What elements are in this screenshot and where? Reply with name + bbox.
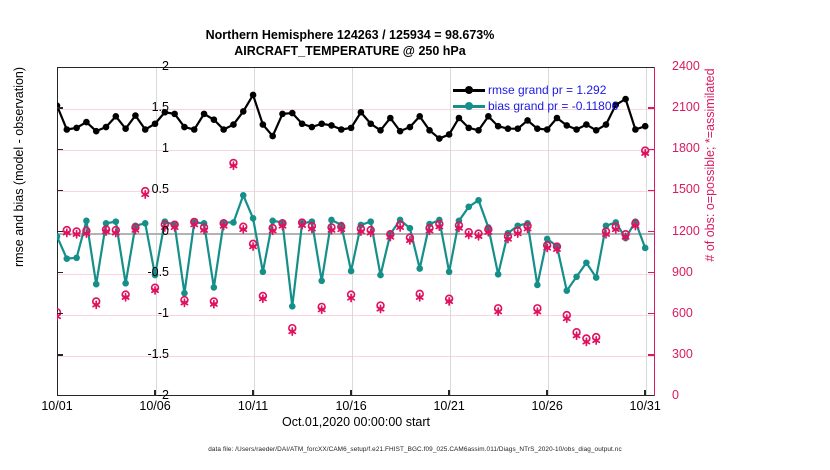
data-point bbox=[642, 245, 649, 252]
data-point bbox=[465, 204, 472, 211]
data-point bbox=[54, 233, 61, 240]
x-tick-mark bbox=[350, 390, 351, 396]
data-point bbox=[191, 126, 198, 133]
data-point bbox=[240, 192, 247, 199]
data-point bbox=[201, 111, 208, 118]
y-tick-label-right: 1500 bbox=[672, 182, 700, 196]
legend-marker-rmse bbox=[453, 84, 485, 96]
data-point bbox=[230, 219, 237, 226]
y-tick-mark-left bbox=[57, 190, 63, 191]
y-tick-label-right: 2100 bbox=[672, 100, 700, 114]
y-tick-label-right: 900 bbox=[672, 265, 693, 279]
data-file-footer: data file: /Users/raeder/DAI/ATM_forcXX/… bbox=[0, 446, 830, 453]
x-tick-mark bbox=[154, 390, 155, 396]
data-point bbox=[377, 127, 384, 134]
y-tick-label-left: -0.5 bbox=[147, 265, 169, 279]
data-point bbox=[250, 215, 257, 222]
data-point bbox=[93, 128, 100, 135]
data-point bbox=[593, 274, 600, 281]
x-tick-label: 10/21 bbox=[433, 399, 464, 413]
y-tick-mark-left bbox=[57, 231, 63, 232]
y-tick-mark-right bbox=[648, 149, 654, 150]
data-point bbox=[113, 218, 120, 225]
data-point bbox=[544, 126, 551, 133]
data-point bbox=[407, 225, 414, 232]
data-point bbox=[289, 110, 296, 117]
data-point bbox=[83, 119, 90, 126]
y-tick-label-right: 300 bbox=[672, 347, 693, 361]
y-tick-label-right: 1800 bbox=[672, 141, 700, 155]
data-point bbox=[142, 220, 149, 227]
data-point bbox=[475, 197, 482, 204]
data-point bbox=[240, 108, 247, 115]
data-point bbox=[563, 287, 570, 294]
data-point bbox=[211, 284, 218, 291]
data-point bbox=[397, 128, 404, 135]
data-point bbox=[416, 265, 423, 272]
data-point bbox=[475, 127, 482, 134]
data-point bbox=[181, 290, 188, 297]
y-tick-label-right: 0 bbox=[672, 388, 679, 402]
data-point bbox=[328, 217, 335, 224]
data-point bbox=[73, 255, 80, 262]
x-tick-mark bbox=[448, 390, 449, 396]
data-point bbox=[328, 122, 335, 129]
data-point bbox=[279, 111, 286, 118]
chart-page: Northern Hemisphere 124263 / 125934 = 98… bbox=[0, 0, 830, 470]
legend: rmse grand pr = 1.292bias grand pr = -0.… bbox=[453, 82, 618, 114]
data-point bbox=[583, 259, 590, 266]
data-point bbox=[358, 109, 365, 116]
data-point bbox=[485, 113, 492, 120]
data-point bbox=[73, 125, 80, 132]
y-tick-label-right: 1200 bbox=[672, 224, 700, 238]
data-point bbox=[436, 135, 443, 142]
data-point bbox=[573, 273, 580, 280]
legend-label-rmse: rmse grand pr = 1.292 bbox=[488, 82, 606, 98]
data-point bbox=[299, 120, 306, 127]
y-tick-label-left: 0.5 bbox=[152, 182, 169, 196]
data-point bbox=[122, 280, 129, 287]
data-point bbox=[367, 218, 374, 225]
data-point bbox=[181, 124, 188, 131]
data-point bbox=[632, 126, 639, 133]
data-point bbox=[367, 120, 374, 127]
y-tick-mark-right bbox=[648, 272, 654, 273]
data-point bbox=[83, 218, 90, 225]
data-point bbox=[64, 255, 71, 262]
y-tick-mark-left bbox=[57, 107, 63, 108]
legend-item-rmse: rmse grand pr = 1.292 bbox=[453, 82, 618, 98]
y-tick-label-left: 0 bbox=[162, 224, 169, 238]
data-point bbox=[426, 127, 433, 134]
data-point bbox=[622, 96, 629, 103]
data-point bbox=[93, 281, 100, 288]
x-tick-mark bbox=[252, 390, 253, 396]
data-point bbox=[152, 120, 159, 127]
y-tick-label-left: 1.5 bbox=[152, 100, 169, 114]
y-tick-mark-right bbox=[648, 107, 654, 108]
data-point bbox=[318, 120, 325, 127]
data-point bbox=[103, 124, 110, 131]
x-tick-mark bbox=[644, 390, 645, 396]
y-tick-mark-right bbox=[648, 231, 654, 232]
x-tick-label: 10/01 bbox=[41, 399, 72, 413]
data-point bbox=[122, 125, 129, 132]
data-point bbox=[514, 125, 521, 132]
data-point bbox=[220, 126, 227, 133]
x-tick-label: 10/31 bbox=[630, 399, 661, 413]
data-point bbox=[269, 133, 276, 140]
data-point bbox=[593, 127, 600, 134]
data-point bbox=[554, 115, 561, 122]
data-point bbox=[348, 268, 355, 275]
data-point bbox=[446, 269, 453, 276]
data-point bbox=[142, 126, 149, 133]
y-tick-label-left: -1.5 bbox=[147, 347, 169, 361]
data-point bbox=[377, 272, 384, 279]
data-point bbox=[583, 121, 590, 128]
data-point bbox=[495, 271, 502, 278]
data-point bbox=[64, 126, 71, 133]
x-tick-label: 10/11 bbox=[238, 399, 268, 413]
y-tick-label-left: 1 bbox=[162, 141, 169, 155]
y-tick-mark-left bbox=[57, 354, 63, 355]
data-point bbox=[113, 113, 120, 120]
data-point bbox=[534, 125, 541, 132]
data-point bbox=[132, 112, 139, 119]
data-point bbox=[446, 131, 453, 138]
data-point bbox=[289, 303, 296, 310]
data-point bbox=[505, 125, 512, 132]
data-point bbox=[171, 111, 178, 118]
x-tick-label: 10/26 bbox=[532, 399, 563, 413]
data-point bbox=[250, 92, 257, 99]
data-point bbox=[456, 115, 463, 122]
data-point bbox=[416, 113, 423, 120]
y-tick-label-left: 2 bbox=[162, 59, 169, 73]
data-point bbox=[573, 126, 580, 133]
y-tick-label-right: 600 bbox=[672, 306, 693, 320]
data-point bbox=[534, 282, 541, 289]
data-point bbox=[465, 125, 472, 132]
y-tick-mark-left bbox=[57, 313, 63, 314]
data-point bbox=[563, 122, 570, 129]
y-tick-mark-left bbox=[57, 272, 63, 273]
legend-marker-bias bbox=[453, 100, 485, 112]
data-point bbox=[260, 269, 267, 276]
data-point bbox=[318, 278, 325, 285]
y-tick-label-left: -1 bbox=[158, 306, 169, 320]
data-point bbox=[309, 124, 316, 131]
data-point bbox=[603, 121, 610, 128]
y-tick-mark-right bbox=[648, 354, 654, 355]
y-axis-label-right: # of obs: o=possible; *=assimilated bbox=[703, 0, 717, 335]
y-axis-label-left: rmse and bias (model - observation) bbox=[12, 2, 26, 332]
legend-label-bias: bias grand pr = -0.11806 bbox=[488, 98, 618, 114]
y-tick-mark-right bbox=[648, 313, 654, 314]
x-tick-label: 10/06 bbox=[139, 399, 170, 413]
data-point bbox=[338, 126, 345, 133]
x-tick-mark bbox=[546, 390, 547, 396]
legend-item-bias: bias grand pr = -0.11806 bbox=[453, 98, 618, 114]
data-point bbox=[407, 124, 414, 131]
data-point bbox=[387, 115, 394, 122]
data-point bbox=[211, 116, 218, 123]
data-point bbox=[269, 218, 276, 225]
data-point bbox=[524, 117, 531, 124]
data-point bbox=[348, 125, 355, 132]
data-point bbox=[260, 121, 267, 128]
y-tick-label-right: 2400 bbox=[672, 59, 700, 73]
data-point bbox=[642, 123, 649, 130]
data-point bbox=[230, 121, 237, 128]
y-tick-mark-left bbox=[57, 149, 63, 150]
y-tick-mark-right bbox=[648, 190, 654, 191]
x-axis-label: Oct.01,2020 00:00:00 start bbox=[57, 415, 655, 429]
x-tick-label: 10/16 bbox=[335, 399, 366, 413]
data-point bbox=[495, 123, 502, 130]
